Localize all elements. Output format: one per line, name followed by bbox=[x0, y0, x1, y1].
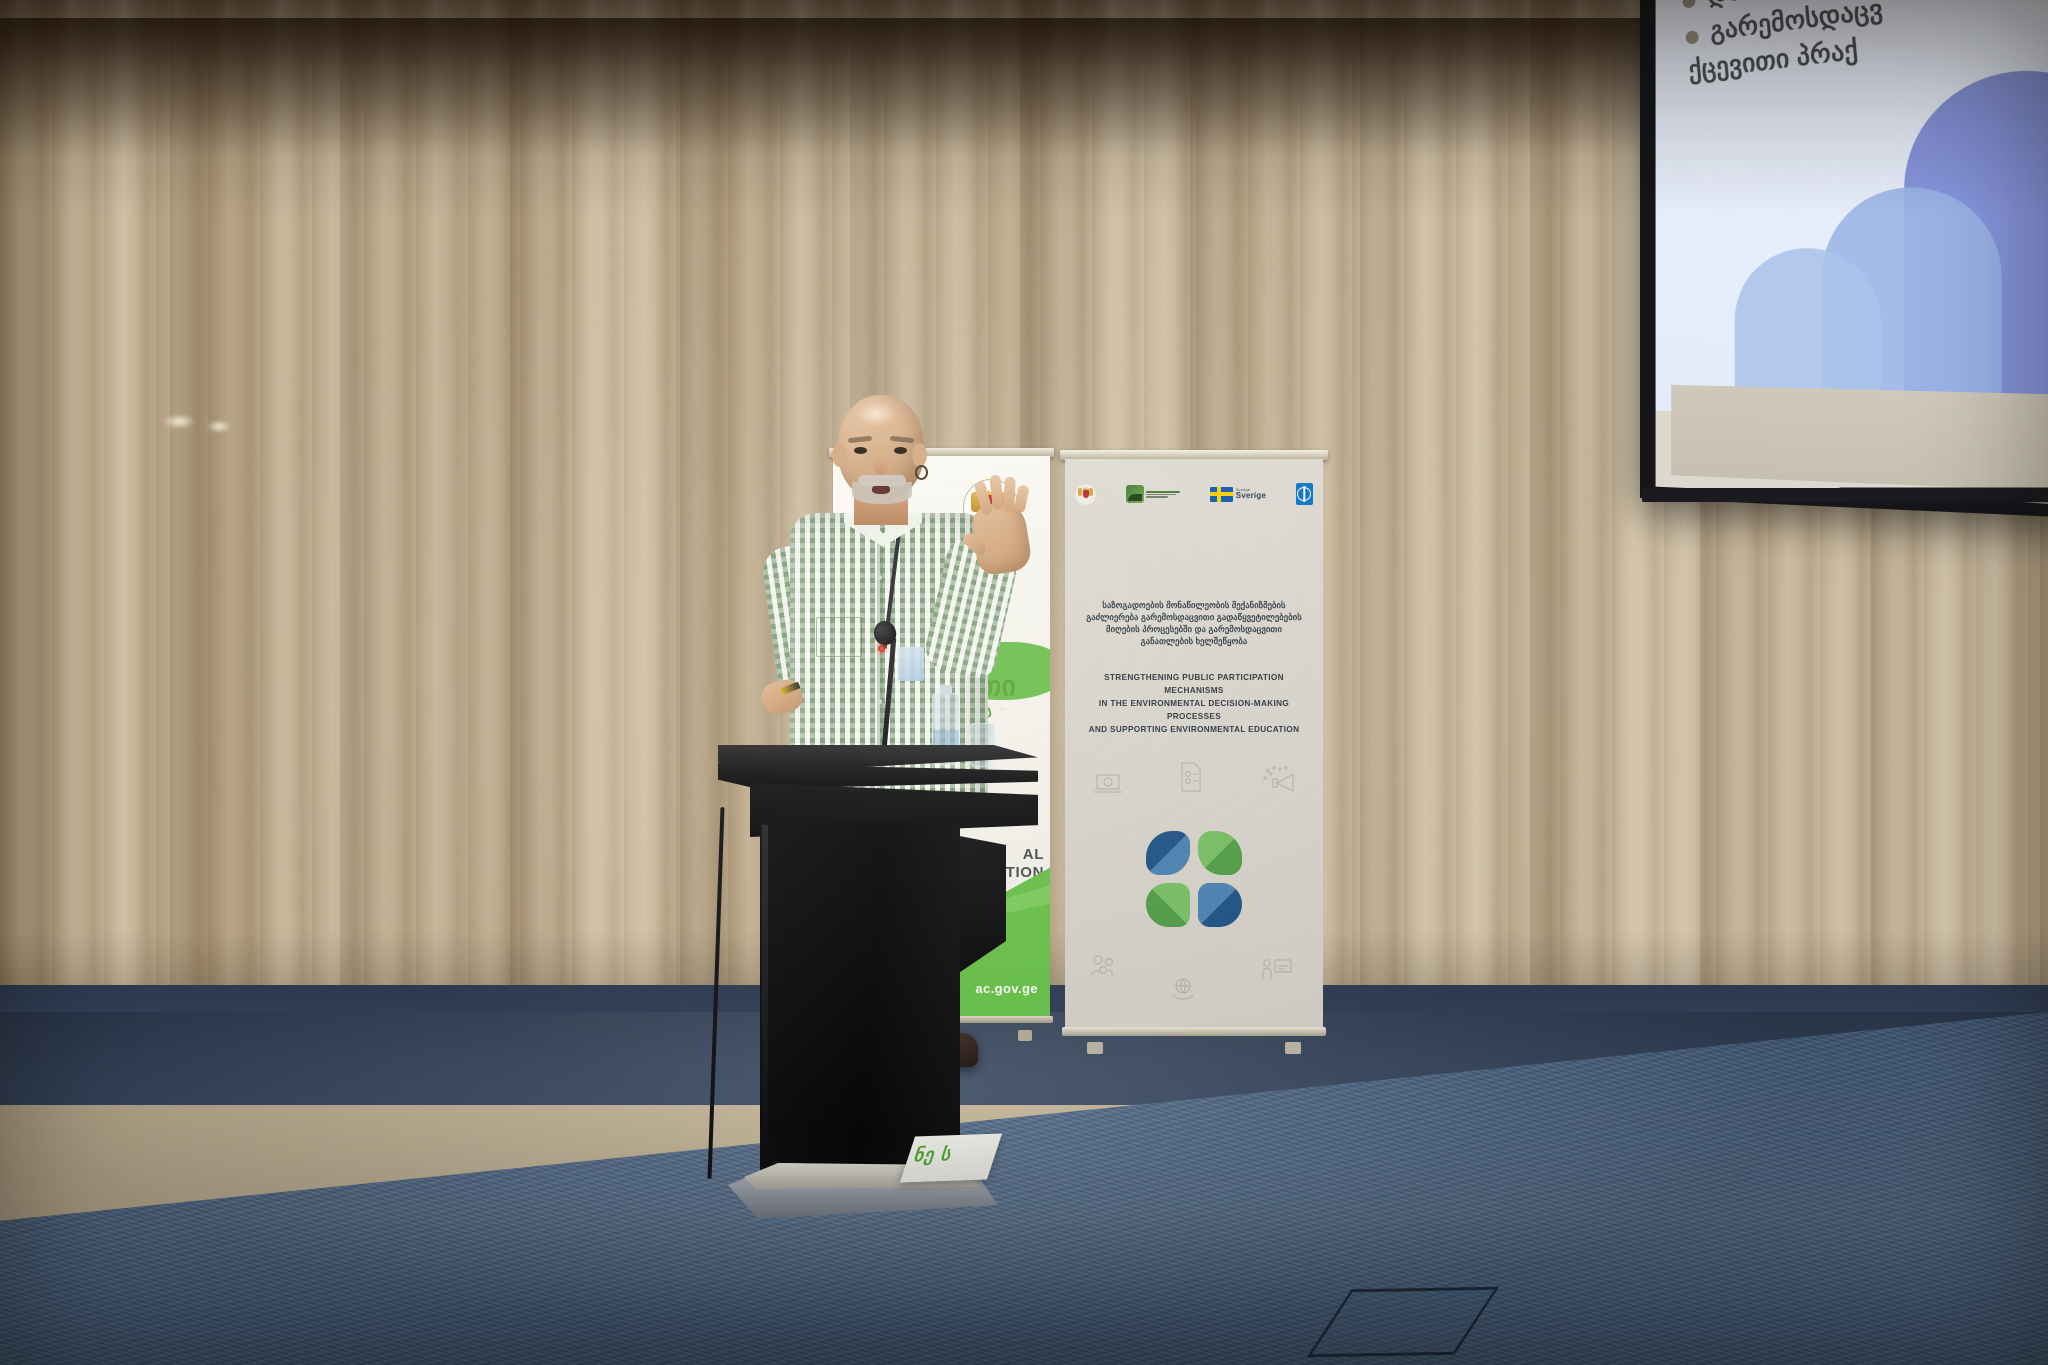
nose bbox=[874, 455, 888, 475]
emblem-lion-right-icon bbox=[1089, 488, 1093, 496]
sverige-label: Sverige bbox=[1236, 492, 1266, 500]
microphone-led bbox=[878, 645, 885, 652]
petal-top-right bbox=[1198, 831, 1242, 875]
ministry-environment-logo bbox=[1126, 485, 1180, 503]
laptop-icon bbox=[1093, 773, 1123, 795]
ear-right bbox=[912, 443, 927, 467]
emblem-lion-left-icon bbox=[1078, 488, 1082, 496]
banner-foot-right bbox=[1285, 1042, 1301, 1054]
banner-watermark-icons-top bbox=[1065, 759, 1323, 815]
banner-english-line-3: AND SUPPORTING ENVIRONMENTAL EDUCATION bbox=[1075, 723, 1313, 736]
screen-frame: დამოკიდე გარემოსდაცვ ქცევითი პრაქ bbox=[1640, 0, 2048, 518]
screen-surface: დამოკიდე გარემოსდაცვ ქცევითი პრაქ bbox=[1656, 0, 2048, 505]
screen-blank-band bbox=[1671, 385, 2048, 492]
shirt-pocket bbox=[816, 617, 862, 657]
slide-content: დამოკიდე გარემოსდაცვ ქცევითი პრაქ bbox=[1656, 0, 2048, 423]
emblem-shield-icon bbox=[1083, 490, 1089, 498]
gov-emblem-icon bbox=[1075, 484, 1096, 505]
georgia-government-emblem-logo bbox=[1075, 484, 1096, 505]
banner-base bbox=[1062, 1027, 1326, 1036]
light-reflection-secondary bbox=[206, 420, 232, 433]
hand-finger bbox=[1013, 484, 1030, 514]
bullet-dot-icon bbox=[1685, 30, 1699, 45]
banner-english-line-2: IN THE ENVIRONMENTAL DECISION-MAKING PRO… bbox=[1075, 697, 1313, 723]
presenter-board-icon bbox=[1261, 957, 1293, 983]
wordmark-line bbox=[1146, 494, 1176, 496]
sweden-flag-icon bbox=[1210, 487, 1233, 502]
wordmark-line bbox=[1146, 496, 1168, 498]
petal-top-left bbox=[1146, 831, 1190, 875]
green-text-card-label: ნე ს bbox=[911, 1144, 955, 1166]
banner-face: Sverige Sverige საზოგადოების მონაწილეობი… bbox=[1065, 459, 1323, 1029]
project-rollup-banner: Sverige Sverige საზოგადოების მონაწილეობი… bbox=[1065, 450, 1323, 1046]
bullet-dot-icon bbox=[1682, 0, 1696, 9]
ministry-leaf-icon bbox=[1126, 485, 1144, 503]
projection-screen: დამოკიდე გარემოსდაცვ ქცევითი პრაქ bbox=[1640, 0, 2048, 510]
shirt-button bbox=[877, 575, 882, 580]
eye-right bbox=[894, 447, 907, 454]
banner-watermark-icons-bottom bbox=[1065, 953, 1323, 1011]
conference-hall-photo: დამოკიდე გარემოსდაცვ ქცევითი პრაქ bbox=[0, 0, 2048, 1365]
document-checklist-icon bbox=[1177, 761, 1203, 793]
banner-foot-left bbox=[1087, 1042, 1103, 1054]
head-highlight bbox=[856, 402, 896, 426]
banner-english-line-1: STRENGTHENING PUBLIC PARTICIPATION MECHA… bbox=[1075, 671, 1313, 697]
wordmark-line bbox=[1146, 491, 1180, 493]
bottle-cap bbox=[940, 685, 952, 695]
four-petal-logo bbox=[1146, 831, 1242, 927]
light-reflection bbox=[162, 414, 196, 429]
lectern-column bbox=[760, 823, 960, 1185]
banner-title-english: STRENGTHENING PUBLIC PARTICIPATION MECHA… bbox=[1075, 671, 1313, 736]
petal-bottom-right bbox=[1198, 883, 1242, 927]
green-text-card: ნე ს bbox=[900, 1134, 1002, 1183]
globe-hands-icon bbox=[1169, 975, 1197, 1001]
earring bbox=[915, 465, 928, 480]
mouth bbox=[872, 485, 890, 494]
people-group-icon bbox=[1089, 953, 1119, 979]
eye-left bbox=[854, 447, 867, 454]
sweden-sverige-logo: Sverige Sverige bbox=[1210, 487, 1266, 502]
banner-title-georgian: საზოგადოების მონაწილეობის მექანიზმების გ… bbox=[1079, 599, 1309, 647]
mustache bbox=[858, 475, 906, 486]
petal-bottom-left bbox=[1146, 883, 1190, 927]
lectern-highlight bbox=[762, 825, 768, 1183]
ear-left bbox=[832, 443, 847, 467]
name-badge bbox=[898, 647, 924, 681]
megaphone-icon bbox=[1263, 765, 1303, 797]
banner-logo-row: Sverige Sverige bbox=[1075, 479, 1313, 509]
ministry-wordmark bbox=[1146, 491, 1180, 498]
sverige-wordmark: Sverige Sverige bbox=[1236, 488, 1266, 500]
shirt-button bbox=[877, 699, 882, 704]
hand-finger bbox=[989, 475, 1003, 510]
screen-bottom-bar bbox=[1642, 487, 2048, 502]
undp-logo bbox=[1296, 483, 1313, 505]
